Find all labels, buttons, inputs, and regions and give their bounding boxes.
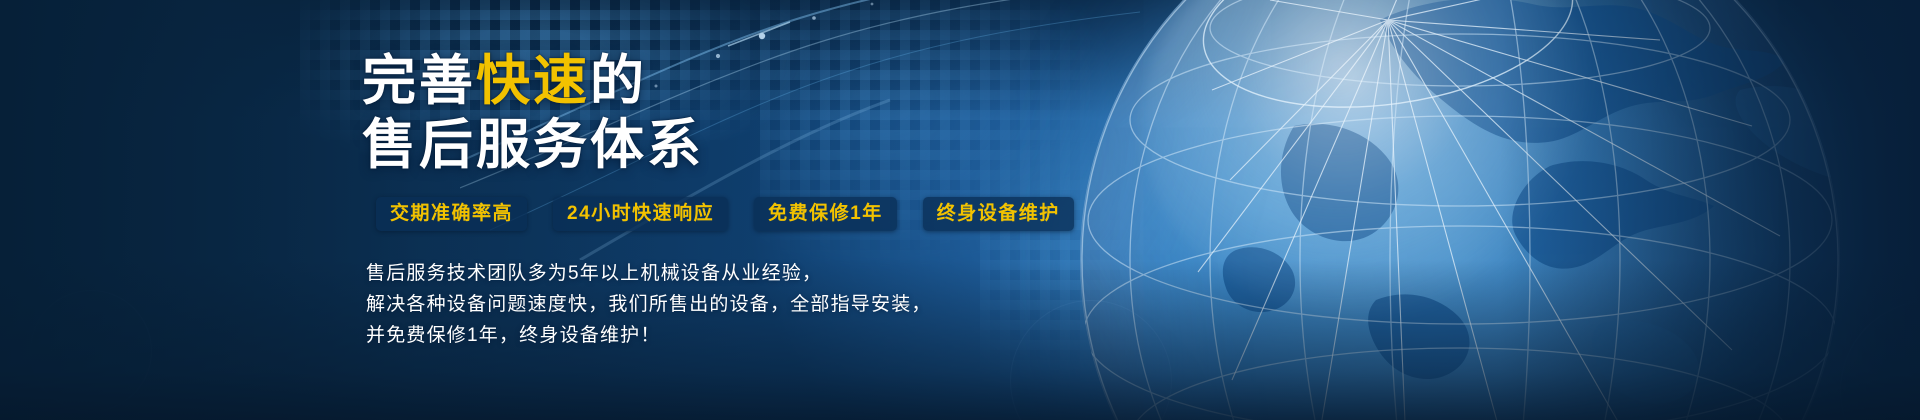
description-line-2: 解决各种设备问题速度快，我们所售出的设备，全部指导安装， [366,290,1182,321]
headline-accent: 快速 [476,51,590,111]
banner-content: 完善快速的 售后服务体系 交期准确率高 24小时快速响应 免费保修1年 终身设备… [362,52,1182,352]
headline-line-1: 完善快速的 [362,52,1182,110]
headline-suffix: 的 [590,51,647,111]
feature-badge-list: 交期准确率高 24小时快速响应 免费保修1年 终身设备维护 [376,197,1182,232]
headline-prefix: 完善 [362,51,476,111]
headline-line-2: 售后服务体系 [362,116,1182,174]
description-line-1: 售后服务技术团队多为5年以上机械设备从业经验， [366,259,1182,290]
feature-badge-warranty: 免费保修1年 [754,197,897,232]
feature-badge-delivery: 交期准确率高 [376,197,527,232]
feature-badge-maintenance: 终身设备维护 [923,197,1074,232]
description-paragraph: 售后服务技术团队多为5年以上机械设备从业经验， 解决各种设备问题速度快，我们所售… [366,259,1182,351]
feature-badge-response: 24小时快速响应 [553,197,728,232]
service-banner: 完善快速的 售后服务体系 交期准确率高 24小时快速响应 免费保修1年 终身设备… [0,0,1920,420]
description-line-3: 并免费保修1年，终身设备维护！ [366,321,1182,352]
